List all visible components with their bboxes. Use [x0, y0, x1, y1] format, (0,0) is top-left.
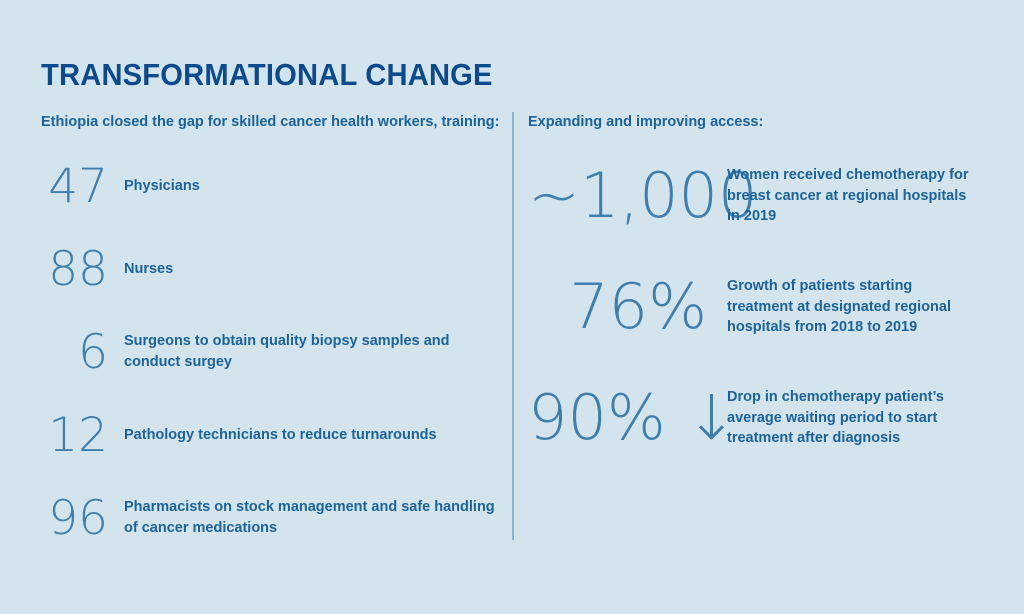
dotted-separator [41, 393, 507, 394]
stat-row: 76% Growth of patients starting treatmen… [528, 266, 983, 348]
stat-row: 96 Pharmacists on stock management and s… [41, 487, 511, 549]
right-column-header: Expanding and improving access: [528, 112, 983, 133]
stat-row: 88 Nurses [41, 238, 511, 300]
left-column: Ethiopia closed the gap for skilled canc… [41, 112, 511, 549]
stat-value: ~1,000 [528, 165, 707, 227]
stat-label: Physicians [124, 176, 500, 197]
stat-label: Pathology technicians to reduce turnarou… [124, 425, 500, 446]
stat-value: 96 [41, 495, 108, 542]
stat-value: 47 [41, 163, 108, 210]
stat-label: Surgeons to obtain quality biopsy sample… [124, 331, 500, 372]
dotted-separator [41, 310, 507, 311]
stat-value: 88 [41, 246, 108, 293]
stat-row: 47 Physicians [41, 155, 511, 217]
stat-label: Drop in chemotherapy patient’s average w… [727, 387, 979, 449]
stat-row: ~1,000 Women received chemotherapy for b… [528, 155, 983, 237]
dotted-separator [528, 251, 980, 252]
stat-row: 12 Pathology technicians to reduce turna… [41, 404, 511, 466]
stat-value: 12 [41, 412, 108, 459]
stat-row: 6 Surgeons to obtain quality biopsy samp… [41, 321, 511, 383]
dotted-separator [41, 227, 507, 228]
stat-label: Growth of patients starting treatment at… [727, 276, 979, 338]
stat-label: Pharmacists on stock management and safe… [124, 497, 500, 538]
stat-label: Women received chemotherapy for breast c… [727, 165, 979, 227]
infographic-page: TRANSFORMATIONAL CHANGE Ethiopia closed … [0, 0, 1024, 614]
stat-value: 76% [528, 276, 707, 338]
stat-row: 90% ↓ Drop in chemotherapy patient’s ave… [528, 377, 983, 459]
dotted-separator [41, 476, 507, 477]
left-column-header: Ethiopia closed the gap for skilled canc… [41, 112, 511, 133]
page-title: TRANSFORMATIONAL CHANGE [41, 57, 493, 93]
stat-label: Nurses [124, 259, 500, 280]
column-divider [512, 112, 514, 540]
stat-value: 6 [41, 329, 108, 376]
dotted-separator [528, 362, 980, 363]
right-column: Expanding and improving access: ~1,000 W… [528, 112, 983, 459]
stat-value-with-down-arrow: 90% ↓ [528, 387, 707, 449]
